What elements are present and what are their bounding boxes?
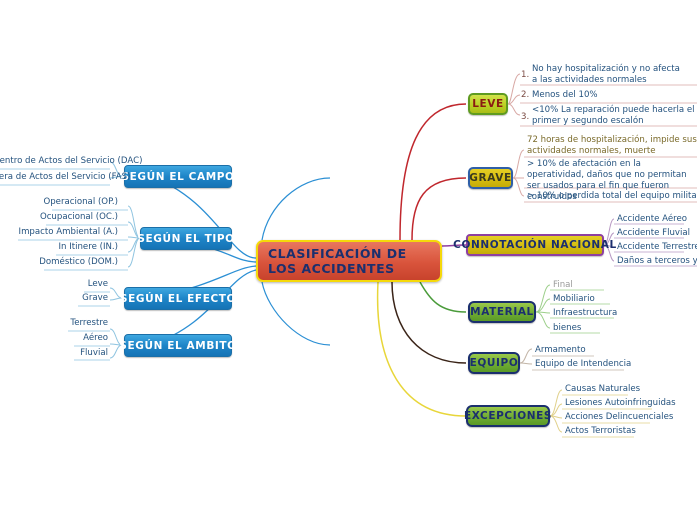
branch-label: SEGÚN EL EFECTO — [120, 293, 236, 305]
branch-label: LEVE — [472, 98, 504, 110]
connotacion-item-1[interactable]: Accidente Aéreo — [617, 214, 687, 225]
center-node[interactable]: CLASIFICACIÓN DE LOS ACCIDENTES — [256, 240, 442, 282]
leaf-tipo-domestico[interactable]: Doméstico (DOM.) — [0, 257, 118, 268]
mindmap-canvas: CLASIFICACIÓN DE LOS ACCIDENTES SEGÚN EL… — [0, 0, 697, 520]
connotacion-item-2[interactable]: Accidente Fluvial — [617, 228, 690, 239]
grave-item-3-text[interactable]: > 10% o perdida total del equipo militar — [527, 191, 697, 202]
leaf-ambito-fluvial[interactable]: Fluvial — [0, 348, 108, 359]
branch-connotacion-nacional[interactable]: CONNOTACIÓN NACIONAL — [466, 234, 604, 256]
connotacion-item-4[interactable]: Daños a terceros y pers — [617, 256, 697, 267]
equipo-item-1[interactable]: Armamento — [535, 345, 586, 356]
branch-label: GRAVE — [469, 172, 511, 184]
branch-label: MATERIAL — [470, 306, 534, 318]
leaf-tipo-ocupacional[interactable]: Ocupacional (OC.) — [0, 212, 118, 223]
branch-excepciones[interactable]: EXCEPCIONES — [466, 405, 550, 427]
center-node-label: CLASIFICACIÓN DE LOS ACCIDENTES — [268, 246, 430, 276]
material-item-3[interactable]: Infraestructura — [553, 308, 617, 319]
branch-label: SEGÚN EL TIPO — [137, 233, 234, 245]
excepciones-item-2[interactable]: Lesiones Autoinfringuidas — [565, 398, 676, 409]
branch-label: CONNOTACIÓN NACIONAL — [453, 239, 617, 251]
leaf-tipo-impacto-ambiental[interactable]: Impacto Ambiental (A.) — [0, 227, 118, 238]
excepciones-item-4[interactable]: Actos Terroristas — [565, 426, 636, 437]
connotacion-item-3[interactable]: Accidente Terrestre — [617, 242, 697, 253]
branch-segun-el-tipo[interactable]: SEGÚN EL TIPO — [140, 227, 232, 250]
leaf-campo-fas[interactable]: Fuera de Actos del Servicio (FAS) — [0, 172, 130, 183]
leaf-tipo-in-itinere[interactable]: In Itinere (IN.) — [0, 242, 118, 253]
leaf-ambito-terrestre[interactable]: Terrestre — [0, 318, 108, 329]
excepciones-item-3[interactable]: Acciones Delincuenciales — [565, 412, 673, 423]
leve-item-2-text[interactable]: Menos del 10% — [532, 90, 598, 101]
grave-item-1-text[interactable]: 72 horas de hospitalización, impide sus … — [527, 135, 697, 157]
branch-label: SEGÚN EL CAMPO — [121, 171, 234, 183]
material-item-1[interactable]: Final — [553, 280, 573, 291]
leaf-ambito-aereo[interactable]: Aéreo — [0, 333, 108, 344]
leve-item-3-number: 3. — [521, 112, 529, 123]
branch-material[interactable]: MATERIAL — [468, 301, 536, 323]
leve-item-1-number: 1. — [521, 70, 529, 81]
branch-segun-el-ambito[interactable]: SEGÚN EL AMBITO — [124, 334, 232, 357]
excepciones-item-1[interactable]: Causas Naturales — [565, 384, 640, 395]
branch-label: SEGÚN EL AMBITO — [119, 340, 236, 352]
branch-grave[interactable]: GRAVE — [468, 167, 513, 189]
branch-label: EXCEPCIONES — [464, 410, 552, 422]
branch-segun-el-efecto[interactable]: SEGÚN EL EFECTO — [124, 287, 232, 310]
material-item-2[interactable]: Mobiliario — [553, 294, 595, 305]
branch-equipo[interactable]: EQUIPO — [468, 352, 520, 374]
material-item-4[interactable]: bienes — [553, 323, 581, 334]
leaf-campo-dac[interactable]: Dentro de Actos del Servicio (DAC) — [0, 156, 142, 167]
leve-item-1-text[interactable]: No hay hospitalización y no afecta a las… — [532, 64, 682, 86]
leaf-efecto-grave[interactable]: Grave — [0, 293, 108, 304]
leve-item-3-text[interactable]: <10% La reparación puede hacerla el prim… — [532, 105, 697, 127]
leve-item-2-number: 2. — [521, 90, 529, 101]
branch-label: EQUIPO — [470, 357, 519, 369]
leaf-efecto-leve[interactable]: Leve — [0, 279, 108, 290]
branch-leve[interactable]: LEVE — [468, 93, 508, 115]
equipo-item-2[interactable]: Equipo de Intendencia — [535, 359, 631, 370]
branch-segun-el-campo[interactable]: SEGÚN EL CAMPO — [124, 165, 232, 188]
leaf-tipo-operacional[interactable]: Operacional (OP.) — [0, 197, 118, 208]
